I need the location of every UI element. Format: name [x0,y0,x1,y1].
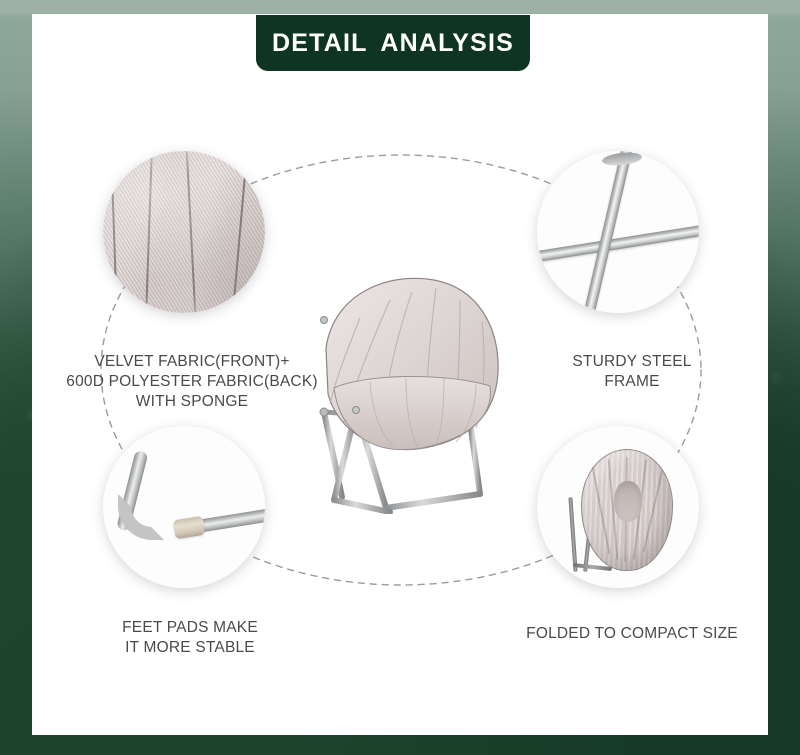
steel-frame-background [537,151,699,313]
fabric-shading-overlay [103,151,265,313]
product-detail-page: DETAIL ANALYSIS [0,0,800,755]
velvet-fabric-closeup-image [103,151,265,313]
cushion-rib [591,467,609,554]
frame-right-leg [470,422,480,494]
folded-cushion-hollow [614,481,641,522]
detail-analysis-banner: DETAIL ANALYSIS [256,15,530,71]
folded-cushion [581,449,674,571]
detail-circle-steel-frame [537,151,699,313]
steel-frame-closeup-image [537,151,699,313]
frame-bottom-rail [386,494,480,508]
cushion-rib [642,470,662,552]
steel-crossbar-horizontal [537,224,699,265]
frame-hinge-joint [353,407,360,414]
folded-chair-background [537,426,699,588]
steel-crossbar-vertical [580,151,635,313]
caption-feet-pad: FEET PADS MAKE IT MORE STABLE [65,618,315,658]
page-title: DETAIL ANALYSIS [272,29,514,58]
feet-pad-closeup-image [103,426,265,588]
frame-top-hinge [321,317,328,324]
detail-circle-feet-pad [103,426,265,588]
feet-pad-background [103,426,265,588]
caption-fabric: VELVET FABRIC(FRONT)+ 600D POLYESTER FAB… [32,352,352,412]
detail-circle-folded-chair [537,426,699,588]
folded-frame-leg [568,497,577,572]
detail-circle-fabric [103,151,265,313]
plastic-foot-pad [173,515,206,538]
steel-tube-end-cap [601,151,642,167]
steel-leg-elbow-bend [118,494,164,540]
caption-steel-frame: STURDY STEEL FRAME [507,352,757,392]
white-content-card: DETAIL ANALYSIS [32,14,768,735]
caption-folded-size: FOLDED TO COMPACT SIZE [497,624,767,644]
folded-chair-image [537,426,699,588]
